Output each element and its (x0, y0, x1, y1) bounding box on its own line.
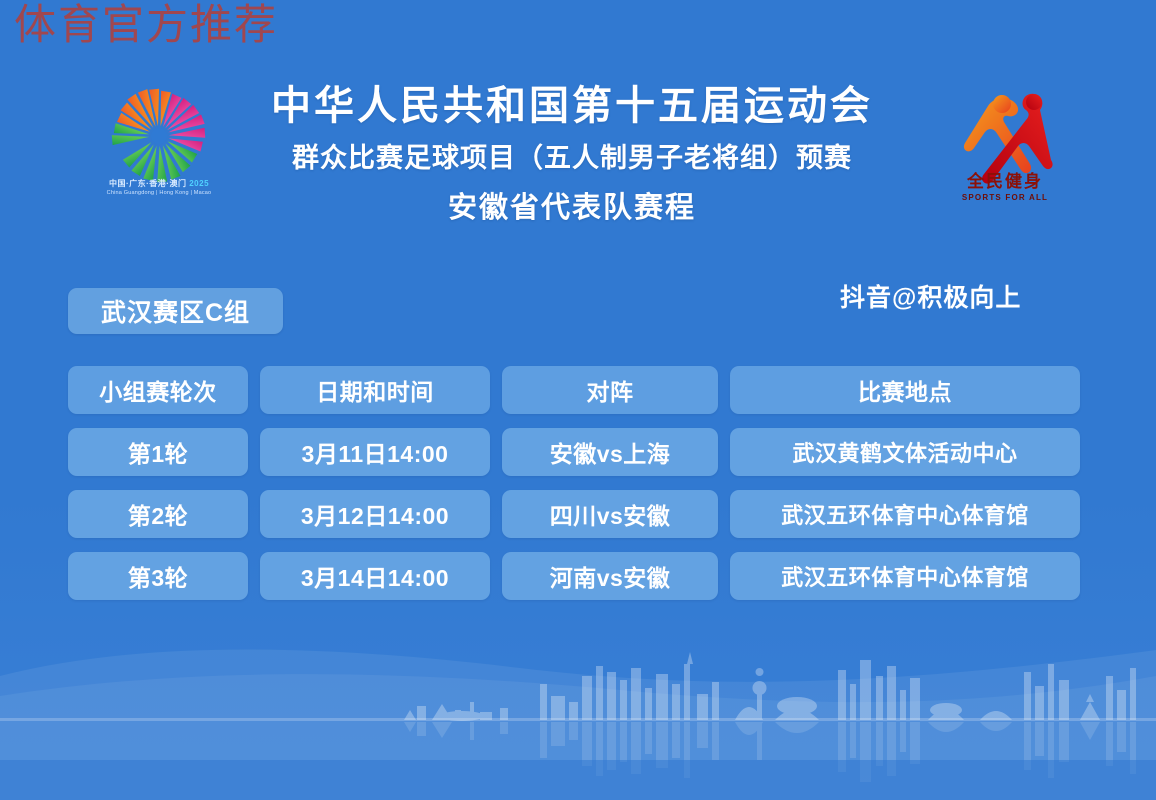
cell-venue: 武汉五环体育中心体育馆 (730, 552, 1080, 600)
logo-left-year: 2025 (189, 179, 209, 188)
cell-venue: 武汉黄鹤文体活动中心 (730, 428, 1080, 476)
poster-header: 中国·广东·香港·澳门 2025 China Guangdong | Hong … (0, 78, 1156, 268)
column-header-matchup: 对阵 (502, 366, 718, 414)
column-header-venue: 比赛地点 (730, 366, 1080, 414)
column-header-datetime: 日期和时间 (260, 366, 490, 414)
cell-round: 第3轮 (68, 552, 248, 600)
poster-root: 体育官方推荐 (0, 0, 1156, 800)
page-subtitle: 群众比赛足球项目（五人制男子老将组）预赛 (210, 134, 934, 182)
skyline-decoration (0, 610, 1156, 800)
cell-datetime: 3月12日14:00 (260, 490, 490, 538)
cell-matchup: 安徽vs上海 (502, 428, 718, 476)
table-row: 第1轮 3月11日14:00 安徽vs上海 武汉黄鹤文体活动中心 (68, 428, 1090, 476)
title-block: 中华人民共和国第十五届运动会 群众比赛足球项目（五人制男子老将组）预赛 安徽省代… (210, 78, 934, 234)
table-row: 第2轮 3月12日14:00 四川vs安徽 武汉五环体育中心体育馆 (68, 490, 1090, 538)
cell-datetime: 3月11日14:00 (260, 428, 490, 476)
logo-right-line2: SPORTS FOR ALL (944, 193, 1066, 202)
cell-matchup: 四川vs安徽 (502, 490, 718, 538)
column-header-round: 小组赛轮次 (68, 366, 248, 414)
douyin-handle: 抖音@积极向上 (840, 278, 1021, 314)
table-header-row: 小组赛轮次 日期和时间 对阵 比赛地点 (68, 366, 1090, 414)
schedule-table: 小组赛轮次 日期和时间 对阵 比赛地点 第1轮 3月11日14:00 安徽vs上… (68, 366, 1090, 614)
table-row: 第3轮 3月14日14:00 河南vs安徽 武汉五环体育中心体育馆 (68, 552, 1090, 600)
cell-matchup: 河南vs安徽 (502, 552, 718, 600)
cell-venue: 武汉五环体育中心体育馆 (730, 490, 1080, 538)
page-subtitle-secondary: 安徽省代表队赛程 (210, 182, 934, 234)
cell-round: 第2轮 (68, 490, 248, 538)
watermark-text: 体育官方推荐 (14, 2, 278, 48)
national-games-logo: 中国·广东·香港·澳门 2025 China Guangdong | Hong … (98, 82, 220, 206)
cell-round: 第1轮 (68, 428, 248, 476)
logo-left-line1: 中国·广东·香港·澳门 (109, 179, 187, 188)
page-title: 中华人民共和国第十五届运动会 (210, 78, 934, 134)
logo-right-line1: 全民健身 (944, 172, 1066, 192)
cell-datetime: 3月14日14:00 (260, 552, 490, 600)
logo-left-line2: China Guangdong | Hong Kong | Macao (98, 190, 220, 196)
group-badge: 武汉赛区C组 (68, 288, 283, 334)
sports-for-all-logo: 全民健身 SPORTS FOR ALL (944, 84, 1066, 210)
